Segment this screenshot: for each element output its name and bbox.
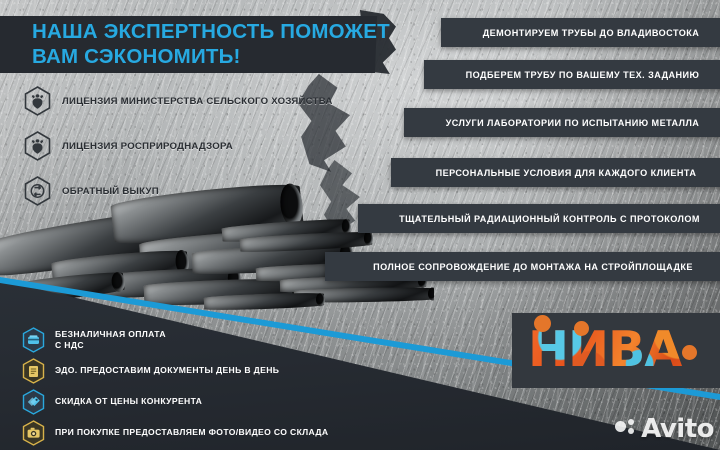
logo-blob	[534, 315, 551, 332]
perk-list: Безналичная оплата с НДС ЭДО. Предостави…	[22, 327, 372, 450]
avito-dots-icon	[615, 419, 636, 440]
headline-text: НАША ЭКСПЕРТНОСТЬ ПОМОЖЕТ ВАМ СЭКОНОМИТЬ…	[32, 19, 392, 69]
russian-coat-of-arms-icon	[24, 86, 51, 116]
price-tag-icon	[22, 389, 45, 415]
service-panel: Демонтируем трубы до Владивостока	[441, 18, 720, 47]
service-panel-label: Тщательный радиационный контроль с прото…	[385, 214, 714, 224]
service-panel: Тщательный радиационный контроль с прото…	[358, 204, 720, 233]
brand-card: Нива	[512, 313, 720, 388]
license-item: Лицензия росприроднадзора	[24, 129, 354, 163]
perk-label: ЭДО. Предоставим документы день в день	[55, 365, 279, 376]
service-panel: Подберем трубу по вашему тех. заданию	[424, 60, 720, 89]
service-panel: Услуги лаборатории по испытанию металла	[404, 108, 720, 137]
brand-logo: Нива	[528, 319, 708, 381]
perk-label: При покупке предоставляем фото/видео со …	[55, 427, 328, 438]
perk-item: Скидка от цены конкурента	[22, 389, 372, 414]
service-panel-label: Услуги лаборатории по испытанию металла	[432, 118, 714, 128]
avito-wordmark: Avito	[641, 414, 714, 444]
service-panel-label: Подберем трубу по вашему тех. заданию	[452, 70, 714, 80]
license-label: Лицензия министерства сельского хозяйств…	[62, 96, 333, 107]
service-panel-label: Демонтируем трубы до Владивостока	[469, 28, 714, 38]
perk-item: Безналичная оплата с НДС	[22, 327, 372, 352]
service-panel: Персональные условия для каждого клиента	[391, 158, 720, 187]
logo-blob	[574, 321, 589, 336]
service-panel-label: Персональные условия для каждого клиента	[422, 168, 711, 178]
perk-label: Безналичная оплата с НДС	[55, 329, 166, 350]
russian-coat-of-arms-icon	[24, 131, 51, 161]
document-icon	[22, 358, 45, 384]
service-panel: Полное сопровождение до монтажа на строй…	[325, 252, 720, 281]
avito-watermark: Avito	[615, 414, 714, 444]
perk-label: Скидка от цены конкурента	[55, 396, 202, 407]
advertisement-banner: НАША ЭКСПЕРТНОСТЬ ПОМОЖЕТ ВАМ СЭКОНОМИТЬ…	[0, 0, 720, 450]
service-panel-label: Полное сопровождение до монтажа на строй…	[359, 262, 707, 272]
license-label: Лицензия росприроднадзора	[62, 141, 233, 152]
license-item: Лицензия министерства сельского хозяйств…	[24, 84, 354, 118]
logo-blob	[682, 345, 697, 360]
perk-item: ЭДО. Предоставим документы день в день	[22, 358, 372, 383]
payment-card-icon	[22, 327, 45, 353]
perk-item: При покупке предоставляем фото/видео со …	[22, 420, 372, 445]
camera-icon	[22, 420, 45, 446]
